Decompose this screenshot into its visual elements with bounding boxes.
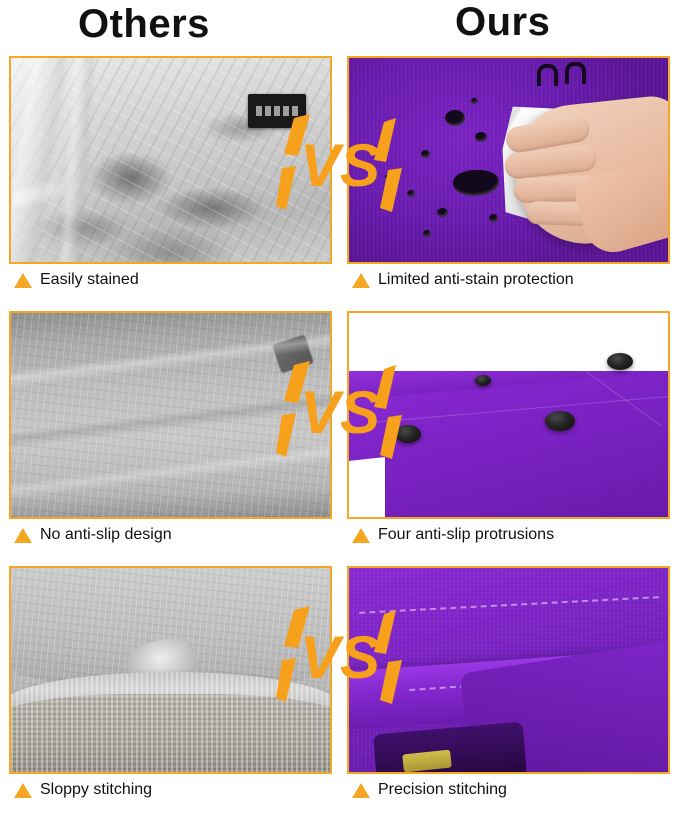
others-stained-grey-cover-photo (11, 58, 330, 262)
water-drop (437, 208, 448, 217)
brand-tag (248, 94, 306, 128)
triangle-marker-icon (14, 528, 32, 543)
anti-slip-protrusion (475, 375, 491, 386)
ours-image-panel-3 (347, 566, 670, 774)
water-drop (475, 132, 487, 142)
others-caption-2: No anti-slip design (14, 523, 172, 547)
others-caption-text-2: No anti-slip design (40, 526, 172, 544)
ours-caption-text-1: Limited anti-stain protection (378, 271, 574, 289)
heading-ours: Ours (455, 0, 550, 45)
fabric-fold (11, 164, 131, 207)
headings-row: Others Ours (0, 0, 679, 52)
fabric-fold (11, 58, 69, 262)
stitch-line (359, 596, 659, 614)
water-drop (407, 190, 415, 197)
fabric-fold (61, 58, 96, 262)
ours-precision-stitching-closeup-photo (349, 568, 668, 772)
others-caption-3: Sloppy stitching (14, 778, 152, 802)
heading-others: Others (78, 2, 210, 47)
anti-slip-protrusion (545, 411, 575, 431)
others-image-panel-1 (9, 56, 332, 264)
comparison-row-2: VS No anti-slip design Four anti-slip pr… (0, 305, 679, 555)
ours-caption-2: Four anti-slip protrusions (352, 523, 554, 547)
photo-background (349, 457, 385, 517)
ours-caption-3: Precision stitching (352, 778, 507, 802)
ours-purple-cover-water-drops-wiped-photo (349, 58, 668, 262)
water-drop (445, 110, 465, 126)
ours-caption-text-3: Precision stitching (378, 781, 507, 799)
triangle-marker-icon (352, 528, 370, 543)
others-caption-text-1: Easily stained (40, 271, 139, 289)
triangle-marker-icon (352, 783, 370, 798)
ours-purple-mat-with-four-protrusions-photo (349, 313, 668, 517)
others-caption-text-3: Sloppy stitching (40, 781, 152, 799)
buckle-hook (537, 64, 558, 86)
triangle-marker-icon (14, 783, 32, 798)
water-drop (471, 98, 478, 104)
comparison-row-1: VS Easily stained Limited anti-stain pro… (0, 50, 679, 300)
ours-caption-text-2: Four anti-slip protrusions (378, 526, 554, 544)
water-drop (385, 174, 392, 180)
triangle-marker-icon (352, 273, 370, 288)
water-drop (453, 170, 499, 196)
fabric-corner-tab (272, 334, 314, 373)
anti-slip-protrusion (607, 353, 633, 370)
water-drop (489, 214, 498, 222)
others-caption-1: Easily stained (14, 268, 139, 292)
ours-caption-1: Limited anti-stain protection (352, 268, 574, 292)
comparison-infographic: Others Ours (0, 0, 679, 815)
water-drop (423, 230, 431, 237)
others-sloppy-stitching-closeup-photo (11, 568, 330, 772)
ours-image-panel-2 (347, 311, 670, 519)
others-image-panel-2 (9, 311, 332, 519)
anti-slip-protrusion (395, 425, 421, 443)
ours-image-panel-1 (347, 56, 670, 264)
water-drop (421, 150, 430, 158)
mesh-base (11, 694, 330, 772)
others-flat-grey-fabric-photo (11, 313, 330, 517)
triangle-marker-icon (14, 273, 32, 288)
buckle-hook (565, 62, 586, 84)
others-image-panel-3 (9, 566, 332, 774)
comparison-row-3: VS Sloppy stitching Precision stitching (0, 560, 679, 810)
